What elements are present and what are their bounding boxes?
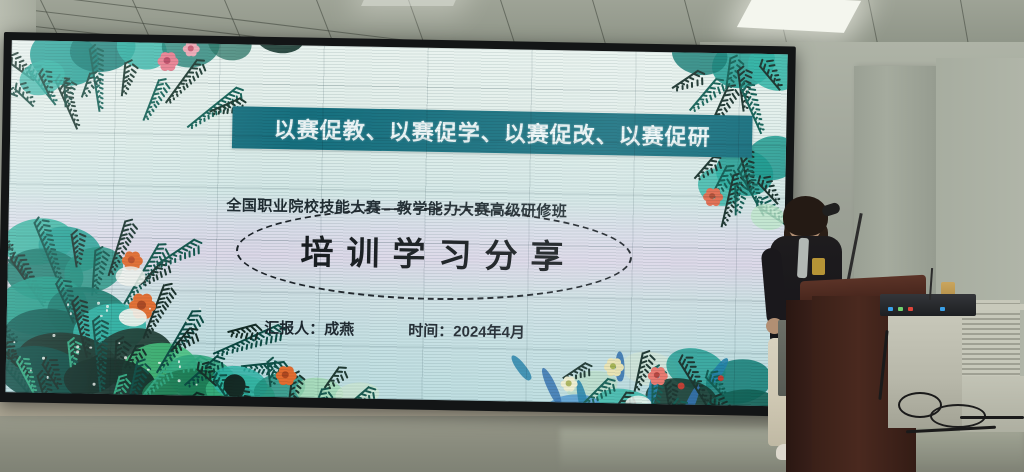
fern-leaf [178,355,202,370]
fern-leaf [38,73,51,97]
fern-leaf [87,358,92,396]
flower-petal [124,262,133,271]
flower-petal [715,193,723,201]
leaf-blob [33,220,106,279]
flower-center [163,57,170,64]
flower-petal [657,367,665,375]
flower-petal [193,45,200,52]
flower-petal [121,256,130,265]
leaf-blob [120,340,200,400]
fern-leaf [184,355,218,386]
fern-leaf [759,65,781,91]
fern-leaf [266,361,271,387]
flower-petal [656,377,664,385]
fern-leaf [664,385,671,407]
leaf-blob [593,384,660,406]
flower-petal [131,262,140,271]
flower-petal [160,51,169,60]
fern-leaf [689,78,718,111]
fern-leaf [5,339,31,377]
speckle [77,346,80,349]
ceiling-light-panel [737,0,861,33]
fern-leaf [91,250,96,296]
fern-leaf [63,81,66,107]
presentation-room-photo: 以赛促教、以赛促学、以赛促改、以赛促研 全国职业院校技能大赛—教学能力大赛高级研… [0,0,1024,472]
fern-leaf [70,234,77,268]
fern-leaf [16,361,36,396]
fern-leaf [634,352,644,392]
leaf-blob [5,244,86,305]
flower-petal [134,256,143,265]
flower-petal [703,193,711,201]
leaf-blob [205,40,256,65]
flower-petal [615,363,623,371]
feather-leaf [645,366,661,407]
speckle [178,380,181,383]
fern-leaf [187,86,238,128]
speckle [106,305,109,308]
flower-petal [568,376,575,383]
speckle [67,303,70,306]
fern-leaf [10,259,45,308]
speckle [177,360,180,363]
speckle [199,307,202,310]
flower-petal [125,251,134,260]
speckle [13,341,16,344]
flower-petal [607,368,615,376]
leaf-blob [5,214,76,268]
flower-petal [160,62,169,71]
leaf-blob [67,40,139,77]
slide-surface: 以赛促教、以赛促学、以赛促改、以赛促研 全国职业院校技能大赛—教学能力大赛高级研… [5,40,787,406]
flower-petal [279,366,288,375]
flower-center [654,372,661,379]
speckle [29,369,32,372]
flower-petal [613,368,621,376]
fern-leaf [41,363,59,389]
flower-petal [141,294,152,305]
leaf-blob [115,266,145,287]
flower-petal [706,188,714,196]
fern-leaf [108,220,127,276]
speckle [195,383,198,386]
flower-petal [285,377,294,386]
fern-leaf [580,378,610,407]
flower-center [566,380,572,386]
flower-petal [190,50,197,57]
speckle [179,365,182,368]
fern-leaf [737,70,745,112]
flower-petal [275,371,284,380]
fern-leaf [694,155,715,179]
feather-leaf [707,356,732,386]
fern-leaf [196,368,217,387]
fern-leaf [241,361,285,368]
date-label: 时间：2024年4月 [408,319,525,342]
fern-leaf [725,57,731,89]
fern-leaf [124,345,138,369]
rack-indicator-red [908,307,913,311]
leaf-blob [15,55,69,101]
flower-petal [157,57,166,66]
flower-petal [561,380,568,387]
fern-leaf [5,345,17,366]
collar [797,238,809,278]
flower-petal [185,50,192,57]
fern-leaf [142,79,160,121]
fern-leaf [114,340,118,370]
flower-petal [651,377,659,385]
fern-leaf [27,70,56,105]
flower-petal [607,358,615,366]
flower-petal [167,52,176,61]
speckle [124,357,127,360]
speckle [53,334,56,337]
speckle [147,369,150,372]
name-badge [812,258,825,275]
hair [783,196,828,236]
fern-leaf [121,62,127,96]
flower-petal [651,367,659,375]
flower-petal [604,363,612,371]
fern-leaf [705,376,726,398]
ceiling-light-panel-2 [361,0,463,6]
flower-petal [288,371,297,380]
rack-indicator-blue [888,307,893,311]
fern-leaf [324,366,341,388]
flower-petal [183,45,190,52]
leaf-blob [12,325,124,403]
slide-footer-line: 汇报人：成燕 时间：2024年4月 [6,312,782,347]
speckle [42,357,45,360]
fern-leaf [89,48,101,112]
feather-leaf [539,366,564,406]
rack-indicator-blue-2 [940,307,945,311]
fern-leaf [651,368,654,406]
flower-petal [166,62,175,71]
speckle [93,383,96,386]
flower-petal [170,57,179,66]
fern-leaf [562,362,586,379]
fern-leaf [81,73,91,98]
leaf-blob [643,374,719,406]
speckle [149,308,152,311]
leaf-blob [662,342,729,395]
flower-petal [278,377,287,386]
speckle [118,342,121,345]
fern-leaf [156,238,195,265]
flower-petal [648,372,656,380]
flower-petal [145,301,156,312]
feather-leaf [675,383,703,407]
fern-leaf [5,247,29,279]
flower-petal [133,294,144,305]
speckle [46,376,49,379]
flower-petal [568,385,575,392]
fern-leaf [678,360,707,405]
leaf-blob [24,40,106,93]
slide-banner: 以赛促教、以赛促学、以赛促改、以赛促研 [232,106,753,158]
leaf-blob [110,40,174,77]
speckle [97,302,100,305]
feather-leaf [615,351,624,381]
cable-horizontal [960,416,1024,419]
speckle [106,309,109,312]
speckle [89,346,92,349]
leaf-blob [160,40,222,70]
flower-petal [285,366,294,375]
flower-center [128,256,135,263]
fern-leaf [672,70,700,90]
flower-petal [570,380,577,387]
flower-petal [131,251,140,260]
flower-center [188,45,194,51]
led-video-wall[interactable]: 以赛促教、以赛促学、以赛促改、以赛促研 全国职业院校技能大赛—教学能力大赛高级研… [0,32,796,416]
berry-2 [718,375,724,381]
flower-center [282,371,289,378]
slide-main-title: 培训学习分享 [235,204,629,299]
flower-petal [712,188,720,196]
fern-leaf [67,341,72,367]
fern-leaf [140,259,165,285]
leaf-blob [564,368,619,404]
fern-leaf [54,80,78,130]
feather-leaf [574,379,594,406]
fern-leaf [123,243,160,305]
flower-petal [613,358,621,366]
slide-banner-text: 以赛促教、以赛促学、以赛促改、以赛促研 [273,112,711,152]
flower-petal [563,385,570,392]
fern-leaf [165,59,198,104]
berry [678,382,685,389]
speckle [158,362,161,365]
fern-leaf [142,366,167,397]
leaf-blob [59,240,129,300]
flower-petal [659,372,667,380]
flower-petal [563,376,570,383]
fern-leaf [33,222,61,288]
fern-leaf [707,165,728,203]
speckle [76,350,79,353]
presenter-label: 汇报人：成燕 [264,317,354,340]
feather-leaf [509,353,534,382]
flower-center [137,300,146,309]
flower-center [709,193,716,200]
leaf-blob [620,348,681,390]
fern-leaf [14,88,34,107]
flower-petal [129,300,140,311]
rack-indicator-green [898,307,903,311]
flower-center [610,363,617,370]
